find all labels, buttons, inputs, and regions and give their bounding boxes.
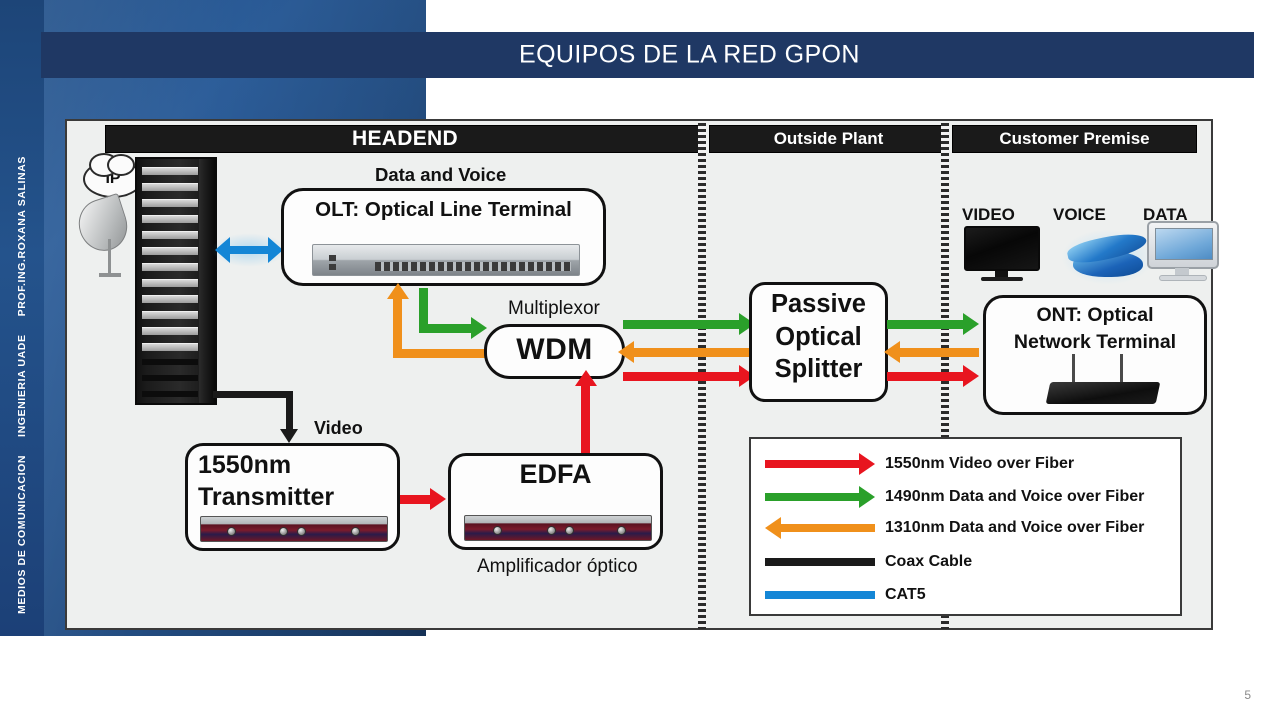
link-coax-horizontal bbox=[213, 391, 293, 398]
sidebar-line-1: MEDIOS DE COMUNICACION bbox=[16, 455, 28, 614]
section-header-outside-plant: Outside Plant bbox=[709, 125, 948, 153]
arrowhead-green-to-wdm bbox=[471, 317, 487, 339]
node-wdm[interactable]: WDM bbox=[484, 324, 625, 379]
node-passive-optical-splitter[interactable]: Passive Optical Splitter bbox=[749, 282, 888, 402]
arrowhead-coax-down bbox=[280, 429, 298, 443]
sidebar-strip: MEDIOS DE COMUNICACION INGENIERIA UADE P… bbox=[0, 0, 44, 636]
label-cpe-voice: VOICE bbox=[1053, 205, 1106, 225]
cat5-double-arrow bbox=[215, 237, 283, 263]
black-line-icon bbox=[765, 551, 885, 573]
node-splitter-label-3: Splitter bbox=[775, 357, 863, 383]
node-olt[interactable]: OLT: Optical Line Terminal bbox=[281, 188, 606, 286]
legend-label-1490nm: 1490nm Data and Voice over Fiber bbox=[885, 488, 1144, 506]
orange-arrow-left-icon bbox=[765, 517, 885, 539]
label-video: Video bbox=[314, 418, 363, 439]
legend-label-1550nm: 1550nm Video over Fiber bbox=[885, 455, 1074, 473]
server-rack-image bbox=[135, 157, 217, 405]
link-green-to-wdm bbox=[419, 324, 471, 333]
label-cpe-video: VIDEO bbox=[962, 205, 1015, 225]
node-olt-label: OLT: Optical Line Terminal bbox=[315, 200, 572, 221]
node-1550nm-transmitter[interactable]: 1550nm Transmitter bbox=[185, 443, 400, 551]
arrowhead-orange-to-olt bbox=[387, 283, 409, 299]
green-arrow-right-icon bbox=[765, 486, 885, 508]
legend-item-1310nm: 1310nm Data and Voice over Fiber bbox=[751, 512, 1180, 544]
node-transmitter-label-2: Transmitter bbox=[198, 484, 334, 510]
link-red-wdm-splitter bbox=[623, 372, 741, 381]
olt-ports bbox=[375, 262, 571, 271]
link-coax-vertical bbox=[286, 391, 293, 431]
olt-device-image bbox=[312, 244, 580, 276]
legend-item-1550nm: 1550nm Video over Fiber bbox=[751, 448, 1180, 480]
label-amplificador-optico: Amplificador óptico bbox=[477, 556, 638, 578]
link-red-tx-to-edfa bbox=[400, 495, 432, 504]
gpon-network-diagram: HEADEND Outside Plant Customer Premise I… bbox=[65, 119, 1213, 630]
label-data-and-voice: Data and Voice bbox=[375, 164, 506, 186]
legend-label-coax: Coax Cable bbox=[885, 553, 972, 571]
ip-cloud-label: IP bbox=[105, 170, 120, 188]
page-number: 5 bbox=[1244, 688, 1251, 702]
blue-line-icon bbox=[765, 584, 885, 606]
arrowhead-red-to-wdm bbox=[575, 370, 597, 386]
node-edfa-label: EDFA bbox=[519, 461, 591, 489]
legend-item-1490nm: 1490nm Data and Voice over Fiber bbox=[751, 481, 1180, 513]
node-ont-label-1: ONT: Optical bbox=[1036, 305, 1153, 325]
node-wdm-label: WDM bbox=[516, 335, 592, 366]
rack-side-panel bbox=[199, 159, 215, 403]
red-arrow-right-icon bbox=[765, 453, 885, 475]
arrowhead-red-ont bbox=[963, 365, 979, 387]
link-orange-wdm-left bbox=[393, 349, 485, 358]
dish-base bbox=[99, 273, 121, 277]
diagram-legend: 1550nm Video over Fiber 1490nm Data and … bbox=[749, 437, 1182, 616]
link-orange-up-to-olt bbox=[393, 297, 402, 353]
edfa-device-image bbox=[464, 515, 652, 541]
link-green-wdm-splitter bbox=[623, 320, 741, 329]
page-title: EQUIPOS DE LA RED GPON bbox=[519, 41, 860, 70]
legend-item-cat5: CAT5 bbox=[751, 579, 1180, 611]
link-orange-splitter-wdm bbox=[633, 348, 753, 357]
legend-item-coax: Coax Cable bbox=[751, 546, 1180, 578]
legend-label-cat5: CAT5 bbox=[885, 586, 926, 604]
link-orange-ont-splitter bbox=[899, 348, 979, 357]
arrowhead-orange-splitter bbox=[884, 341, 900, 363]
legend-label-1310nm: 1310nm Data and Voice over Fiber bbox=[885, 519, 1144, 537]
sidebar-course-text: MEDIOS DE COMUNICACION INGENIERIA UADE P… bbox=[0, 2, 44, 622]
link-red-edfa-to-wdm bbox=[581, 383, 590, 455]
slide-title-bar: EQUIPOS DE LA RED GPON bbox=[41, 32, 1254, 78]
ont-router-image bbox=[1048, 372, 1158, 408]
ip-cloud-icon: IP bbox=[83, 160, 143, 198]
link-green-splitter-ont bbox=[887, 320, 965, 329]
section-header-headend: HEADEND bbox=[105, 125, 705, 153]
satellite-dish-icon bbox=[77, 199, 137, 279]
node-transmitter-label-1: 1550nm bbox=[198, 452, 291, 478]
arrowhead-orange-wdm bbox=[618, 341, 634, 363]
section-header-customer-premise: Customer Premise bbox=[952, 125, 1197, 153]
transmitter-device-image bbox=[200, 516, 388, 542]
node-splitter-label-1: Passive bbox=[771, 292, 866, 318]
sidebar-line-3: PROF.ING.ROXANA SALINAS bbox=[16, 156, 28, 316]
desktop-computer-icon bbox=[1147, 221, 1219, 283]
ip-phone-icon bbox=[1067, 225, 1149, 283]
arrowhead-red-edfa bbox=[430, 488, 446, 510]
node-splitter-label-2: Optical bbox=[775, 325, 861, 351]
sidebar-line-2: INGENIERIA UADE bbox=[16, 334, 28, 437]
node-edfa[interactable]: EDFA bbox=[448, 453, 663, 550]
dish-mast bbox=[108, 239, 111, 275]
arrowhead-green-ont bbox=[963, 313, 979, 335]
label-multiplexor: Multiplexor bbox=[508, 298, 600, 320]
dish-reflector bbox=[72, 193, 134, 257]
node-ont-label-2: Network Terminal bbox=[1014, 332, 1176, 352]
node-ont[interactable]: ONT: Optical Network Terminal bbox=[983, 295, 1207, 415]
cat5-line bbox=[228, 246, 270, 254]
link-red-splitter-ont bbox=[887, 372, 965, 381]
slide-canvas: MEDIOS DE COMUNICACION INGENIERIA UADE P… bbox=[0, 0, 1279, 720]
television-icon bbox=[964, 226, 1040, 282]
